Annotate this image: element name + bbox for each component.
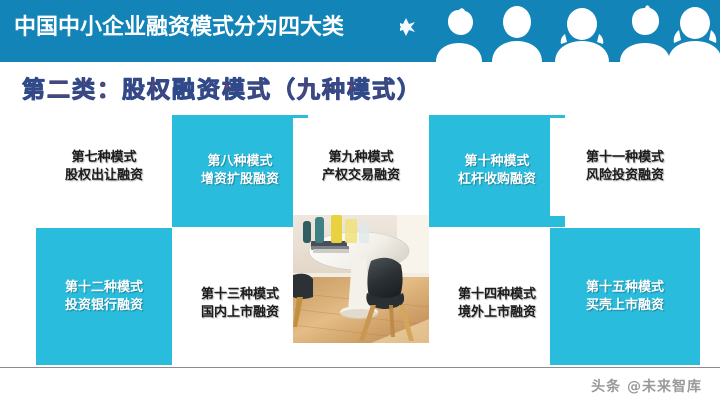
mode-tile-15-line1: 第十五种模式 bbox=[586, 280, 664, 295]
mode-tile-11-label: 第十一种模式风险投资融资 bbox=[586, 149, 664, 185]
mode-tile-10[interactable]: 第十种模式杠杆收购融资 bbox=[429, 115, 565, 227]
mode-tile-9[interactable]: 第九种模式产权交易融资 bbox=[293, 118, 429, 216]
mode-tile-7[interactable]: 第七种模式股权出让融资 bbox=[36, 118, 172, 216]
mode-tile-10-line2: 杠杆收购融资 bbox=[458, 172, 536, 187]
header-bar: 中国中小企业融资模式分为四大类 bbox=[0, 0, 720, 62]
mode-tile-7-line1: 第七种模式 bbox=[71, 150, 136, 165]
mode-tile-14-line1: 第十四种模式 bbox=[458, 287, 536, 302]
office-round-table-chair-photo bbox=[293, 215, 429, 343]
mode-tile-14-label: 第十四种模式境外上市融资 bbox=[458, 286, 536, 322]
mode-tile-8-label: 第八种模式增资扩股融资 bbox=[201, 153, 279, 189]
mode-tile-13-line1: 第十三种模式 bbox=[201, 287, 279, 302]
mode-tile-9-label: 第九种模式产权交易融资 bbox=[322, 149, 400, 185]
mode-tile-7-line2: 股权出让融资 bbox=[65, 168, 143, 183]
mode-tile-13-label: 第十三种模式国内上市融资 bbox=[201, 286, 279, 322]
mode-tile-10-label: 第十种模式杠杆收购融资 bbox=[458, 153, 536, 189]
section-subtitle: 第二类：股权融资模式（九种模式） bbox=[22, 70, 422, 104]
mode-tile-9-line2: 产权交易融资 bbox=[322, 168, 400, 183]
mode-tile-8-line2: 增资扩股融资 bbox=[201, 172, 279, 187]
mode-tile-13[interactable]: 第十三种模式国内上市融资 bbox=[172, 243, 308, 365]
mode-tile-10-line1: 第十种模式 bbox=[464, 154, 529, 169]
mode-tile-15[interactable]: 第十五种模式买壳上市融资 bbox=[550, 228, 700, 365]
mode-tile-13-line2: 国内上市融资 bbox=[201, 305, 279, 320]
footer-divider bbox=[0, 367, 720, 368]
mode-tile-12-label: 第十二种模式投资银行融资 bbox=[65, 279, 143, 315]
mode-tile-11[interactable]: 第十一种模式风险投资融资 bbox=[550, 118, 700, 216]
page-title: 中国中小企业融资模式分为四大类 bbox=[14, 13, 344, 43]
mode-tile-11-line1: 第十一种模式 bbox=[586, 150, 664, 165]
mode-tile-7-label: 第七种模式股权出让融资 bbox=[65, 149, 143, 185]
mode-tile-11-line2: 风险投资融资 bbox=[586, 168, 664, 183]
mode-tile-8[interactable]: 第八种模式增资扩股融资 bbox=[172, 115, 308, 227]
mode-tile-15-label: 第十五种模式买壳上市融资 bbox=[586, 279, 664, 315]
mode-tile-14-line2: 境外上市融资 bbox=[458, 305, 536, 320]
watermark: 头条 @未来智库 bbox=[591, 376, 702, 396]
slide-canvas: 中国中小企业融资模式分为四大类 第二类：股权融资模式（九种模式） 第七种模式股权… bbox=[0, 0, 720, 405]
mode-tile-9-line1: 第九种模式 bbox=[328, 150, 393, 165]
mode-tile-8-line1: 第八种模式 bbox=[207, 154, 272, 169]
mode-tile-12[interactable]: 第十二种模式投资银行融资 bbox=[36, 228, 172, 365]
mode-tile-12-line1: 第十二种模式 bbox=[65, 280, 143, 295]
mode-tile-15-line2: 买壳上市融资 bbox=[586, 298, 664, 313]
mode-tile-14[interactable]: 第十四种模式境外上市融资 bbox=[429, 243, 565, 365]
people-silhouette-group-icon bbox=[400, 0, 720, 62]
mode-tile-12-line2: 投资银行融资 bbox=[65, 298, 143, 313]
